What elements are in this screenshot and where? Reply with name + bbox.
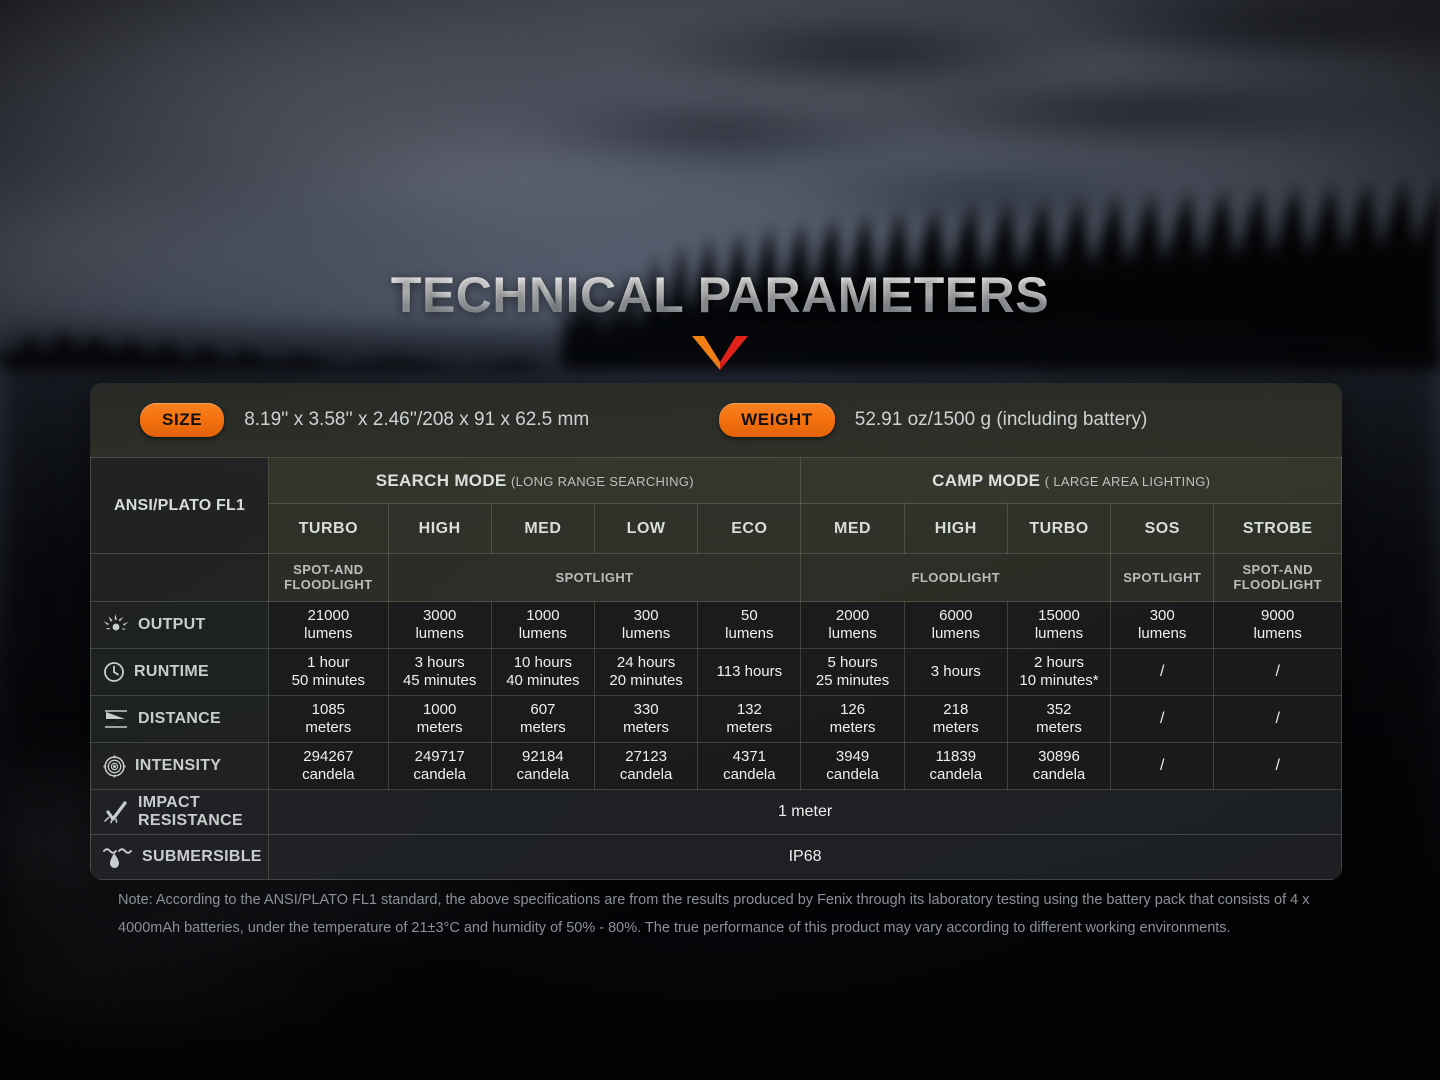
row-label-output: OUTPUT [91,602,269,649]
mode-group-name: SEARCH MODE [376,471,507,490]
table-row: RUNTIME1 hour50 minutes3 hours45 minutes… [91,649,1342,696]
panel-header: SIZE 8.19'' x 3.58'' x 2.46''/208 x 91 x… [90,383,1342,457]
full-row-value-0: 1 meter [269,790,1342,835]
mode-group-header-0: SEARCH MODE (LONG RANGE SEARCHING) [269,458,801,504]
cell-r1-c8: / [1111,649,1214,696]
mode-group-sub: (LONG RANGE SEARCHING) [511,474,694,489]
cell-r1-c0: 1 hour50 minutes [269,649,388,696]
level-label: HIGH [419,520,461,537]
cell-r2-c2: 607meters [491,696,594,743]
cell-r0-c9: 9000lumens [1214,602,1342,649]
row-label-text: IMPACTRESISTANCE [138,794,243,830]
level-header-0: TURBO [269,504,388,554]
full-row-value-text: 1 meter [778,803,832,820]
level-header-8: SOS [1111,504,1214,554]
cell-r1-c9: / [1214,649,1342,696]
cell-r2-c9: / [1214,696,1342,743]
cell-r3-c1: 249717candela [388,743,491,790]
beam-header-3: SPOTLIGHT [1111,554,1214,602]
row-label-text: SUBMERSIBLE [142,848,262,866]
level-header-9: STROBE [1214,504,1342,554]
cell-r3-c3: 27123candela [594,743,697,790]
level-label: STROBE [1243,520,1313,537]
cell-r0-c2: 1000lumens [491,602,594,649]
cell-r3-c9: / [1214,743,1342,790]
row-label-text: RUNTIME [134,663,209,681]
level-header-1: HIGH [388,504,491,554]
cell-r3-c6: 11839candela [904,743,1007,790]
cell-r2-c8: / [1111,696,1214,743]
cell-r1-c3: 24 hours20 minutes [594,649,697,696]
table-row-levels: TURBOHIGHMEDLOWECOMEDHIGHTURBOSOSSTROBE [91,504,1342,554]
cell-r0-c5: 2000lumens [801,602,904,649]
level-label: SOS [1145,520,1180,537]
beam-label: FLOODLIGHT [912,570,1001,585]
row-label-text: OUTPUT [138,616,206,634]
cell-r3-c0: 294267candela [269,743,388,790]
ansi-standard-label: ANSI/PLATO FL1 [114,497,245,514]
full-row-value-text: IP68 [789,848,822,865]
beam-corner-blank [91,554,269,602]
beam-label: SPOTLIGHT [556,570,634,585]
footnote: Note: According to the ANSI/PLATO FL1 st… [118,886,1328,942]
corner-cell: ANSI/PLATO FL1 [91,458,269,554]
level-label: MED [834,520,871,537]
cell-r0-c0: 21000lumens [269,602,388,649]
mode-group-name: CAMP MODE [932,471,1040,490]
cell-r1-c5: 5 hours25 minutes [801,649,904,696]
cell-r3-c2: 92184candela [491,743,594,790]
beam-header-1: SPOTLIGHT [388,554,801,602]
weight-value: 52.91 oz/1500 g (including battery) [855,409,1148,431]
row-label-text: DISTANCE [138,710,221,728]
beam-label: SPOTLIGHT [1123,570,1201,585]
full-row-value-1: IP68 [269,835,1342,880]
level-label: HIGH [935,520,977,537]
cell-r0-c3: 300lumens [594,602,697,649]
beam-header-0: SPOT-ANDFLOODLIGHT [269,554,388,602]
page-root: TECHNICAL PARAMETERS SIZE 8.19'' x 3.58'… [0,0,1440,1080]
table-row-full: SUBMERSIBLEIP68 [91,835,1342,880]
cell-r0-c4: 50lumens [698,602,801,649]
level-header-2: MED [491,504,594,554]
cell-r3-c7: 30896candela [1007,743,1110,790]
row-label-intensity: INTENSITY [91,743,269,790]
table-body: ANSI/PLATO FL1SEARCH MODE (LONG RANGE SE… [91,458,1342,880]
title-block: TECHNICAL PARAMETERS [0,266,1440,370]
table-row-full: IMPACTRESISTANCE1 meter [91,790,1342,835]
level-label: TURBO [1029,520,1088,537]
level-header-6: HIGH [904,504,1007,554]
table-row: DISTANCE1085meters1000meters607meters330… [91,696,1342,743]
cell-r2-c5: 126meters [801,696,904,743]
cell-r2-c6: 218meters [904,696,1007,743]
row-label-full-1: SUBMERSIBLE [91,835,269,880]
level-label: LOW [627,520,666,537]
specs-panel: SIZE 8.19'' x 3.58'' x 2.46''/208 x 91 x… [90,383,1342,880]
cell-r0-c8: 300lumens [1111,602,1214,649]
beam-header-2: FLOODLIGHT [801,554,1111,602]
cell-r2-c4: 132meters [698,696,801,743]
level-label: ECO [731,520,767,537]
level-header-4: ECO [698,504,801,554]
cell-r0-c1: 3000lumens [388,602,491,649]
cell-r2-c7: 352meters [1007,696,1110,743]
specifications-table: ANSI/PLATO FL1SEARCH MODE (LONG RANGE SE… [90,457,1342,880]
beam-label: SPOT-ANDFLOODLIGHT [269,563,387,593]
cell-r2-c0: 1085meters [269,696,388,743]
table-row: INTENSITY294267candela249717candela92184… [91,743,1342,790]
cell-r2-c3: 330meters [594,696,697,743]
level-header-5: MED [801,504,904,554]
level-label: MED [524,520,561,537]
level-label: TURBO [299,520,358,537]
level-header-7: TURBO [1007,504,1110,554]
cell-r1-c2: 10 hours40 minutes [491,649,594,696]
table-row-mode-groups: ANSI/PLATO FL1SEARCH MODE (LONG RANGE SE… [91,458,1342,504]
cell-r3-c8: / [1111,743,1214,790]
cell-r0-c6: 6000lumens [904,602,1007,649]
table-row-beams: SPOT-ANDFLOODLIGHTSPOTLIGHTFLOODLIGHTSPO… [91,554,1342,602]
mode-group-header-1: CAMP MODE ( LARGE AREA LIGHTING) [801,458,1342,504]
cell-r3-c4: 4371candela [698,743,801,790]
mode-group-sub: ( LARGE AREA LIGHTING) [1045,474,1211,489]
cell-r1-c1: 3 hours45 minutes [388,649,491,696]
cell-r2-c1: 1000meters [388,696,491,743]
page-title: TECHNICAL PARAMETERS [0,266,1440,324]
chevron-down-icon [692,336,748,370]
beam-header-4: SPOT-ANDFLOODLIGHT [1214,554,1342,602]
cell-r0-c7: 15000lumens [1007,602,1110,649]
row-label-distance: DISTANCE [91,696,269,743]
cell-r1-c6: 3 hours [904,649,1007,696]
table-row: OUTPUT21000lumens3000lumens1000lumens300… [91,602,1342,649]
cell-r3-c5: 3949candela [801,743,904,790]
cell-r1-c4: 113 hours [698,649,801,696]
size-value: 8.19'' x 3.58'' x 2.46''/208 x 91 x 62.5… [244,409,589,431]
cell-r1-c7: 2 hours10 minutes* [1007,649,1110,696]
beam-label: SPOT-ANDFLOODLIGHT [1214,563,1341,593]
row-label-text: INTENSITY [135,757,221,775]
level-header-3: LOW [594,504,697,554]
row-label-runtime: RUNTIME [91,649,269,696]
row-label-full-0: IMPACTRESISTANCE [91,790,269,835]
size-badge: SIZE [140,403,224,437]
weight-badge: WEIGHT [719,403,835,437]
